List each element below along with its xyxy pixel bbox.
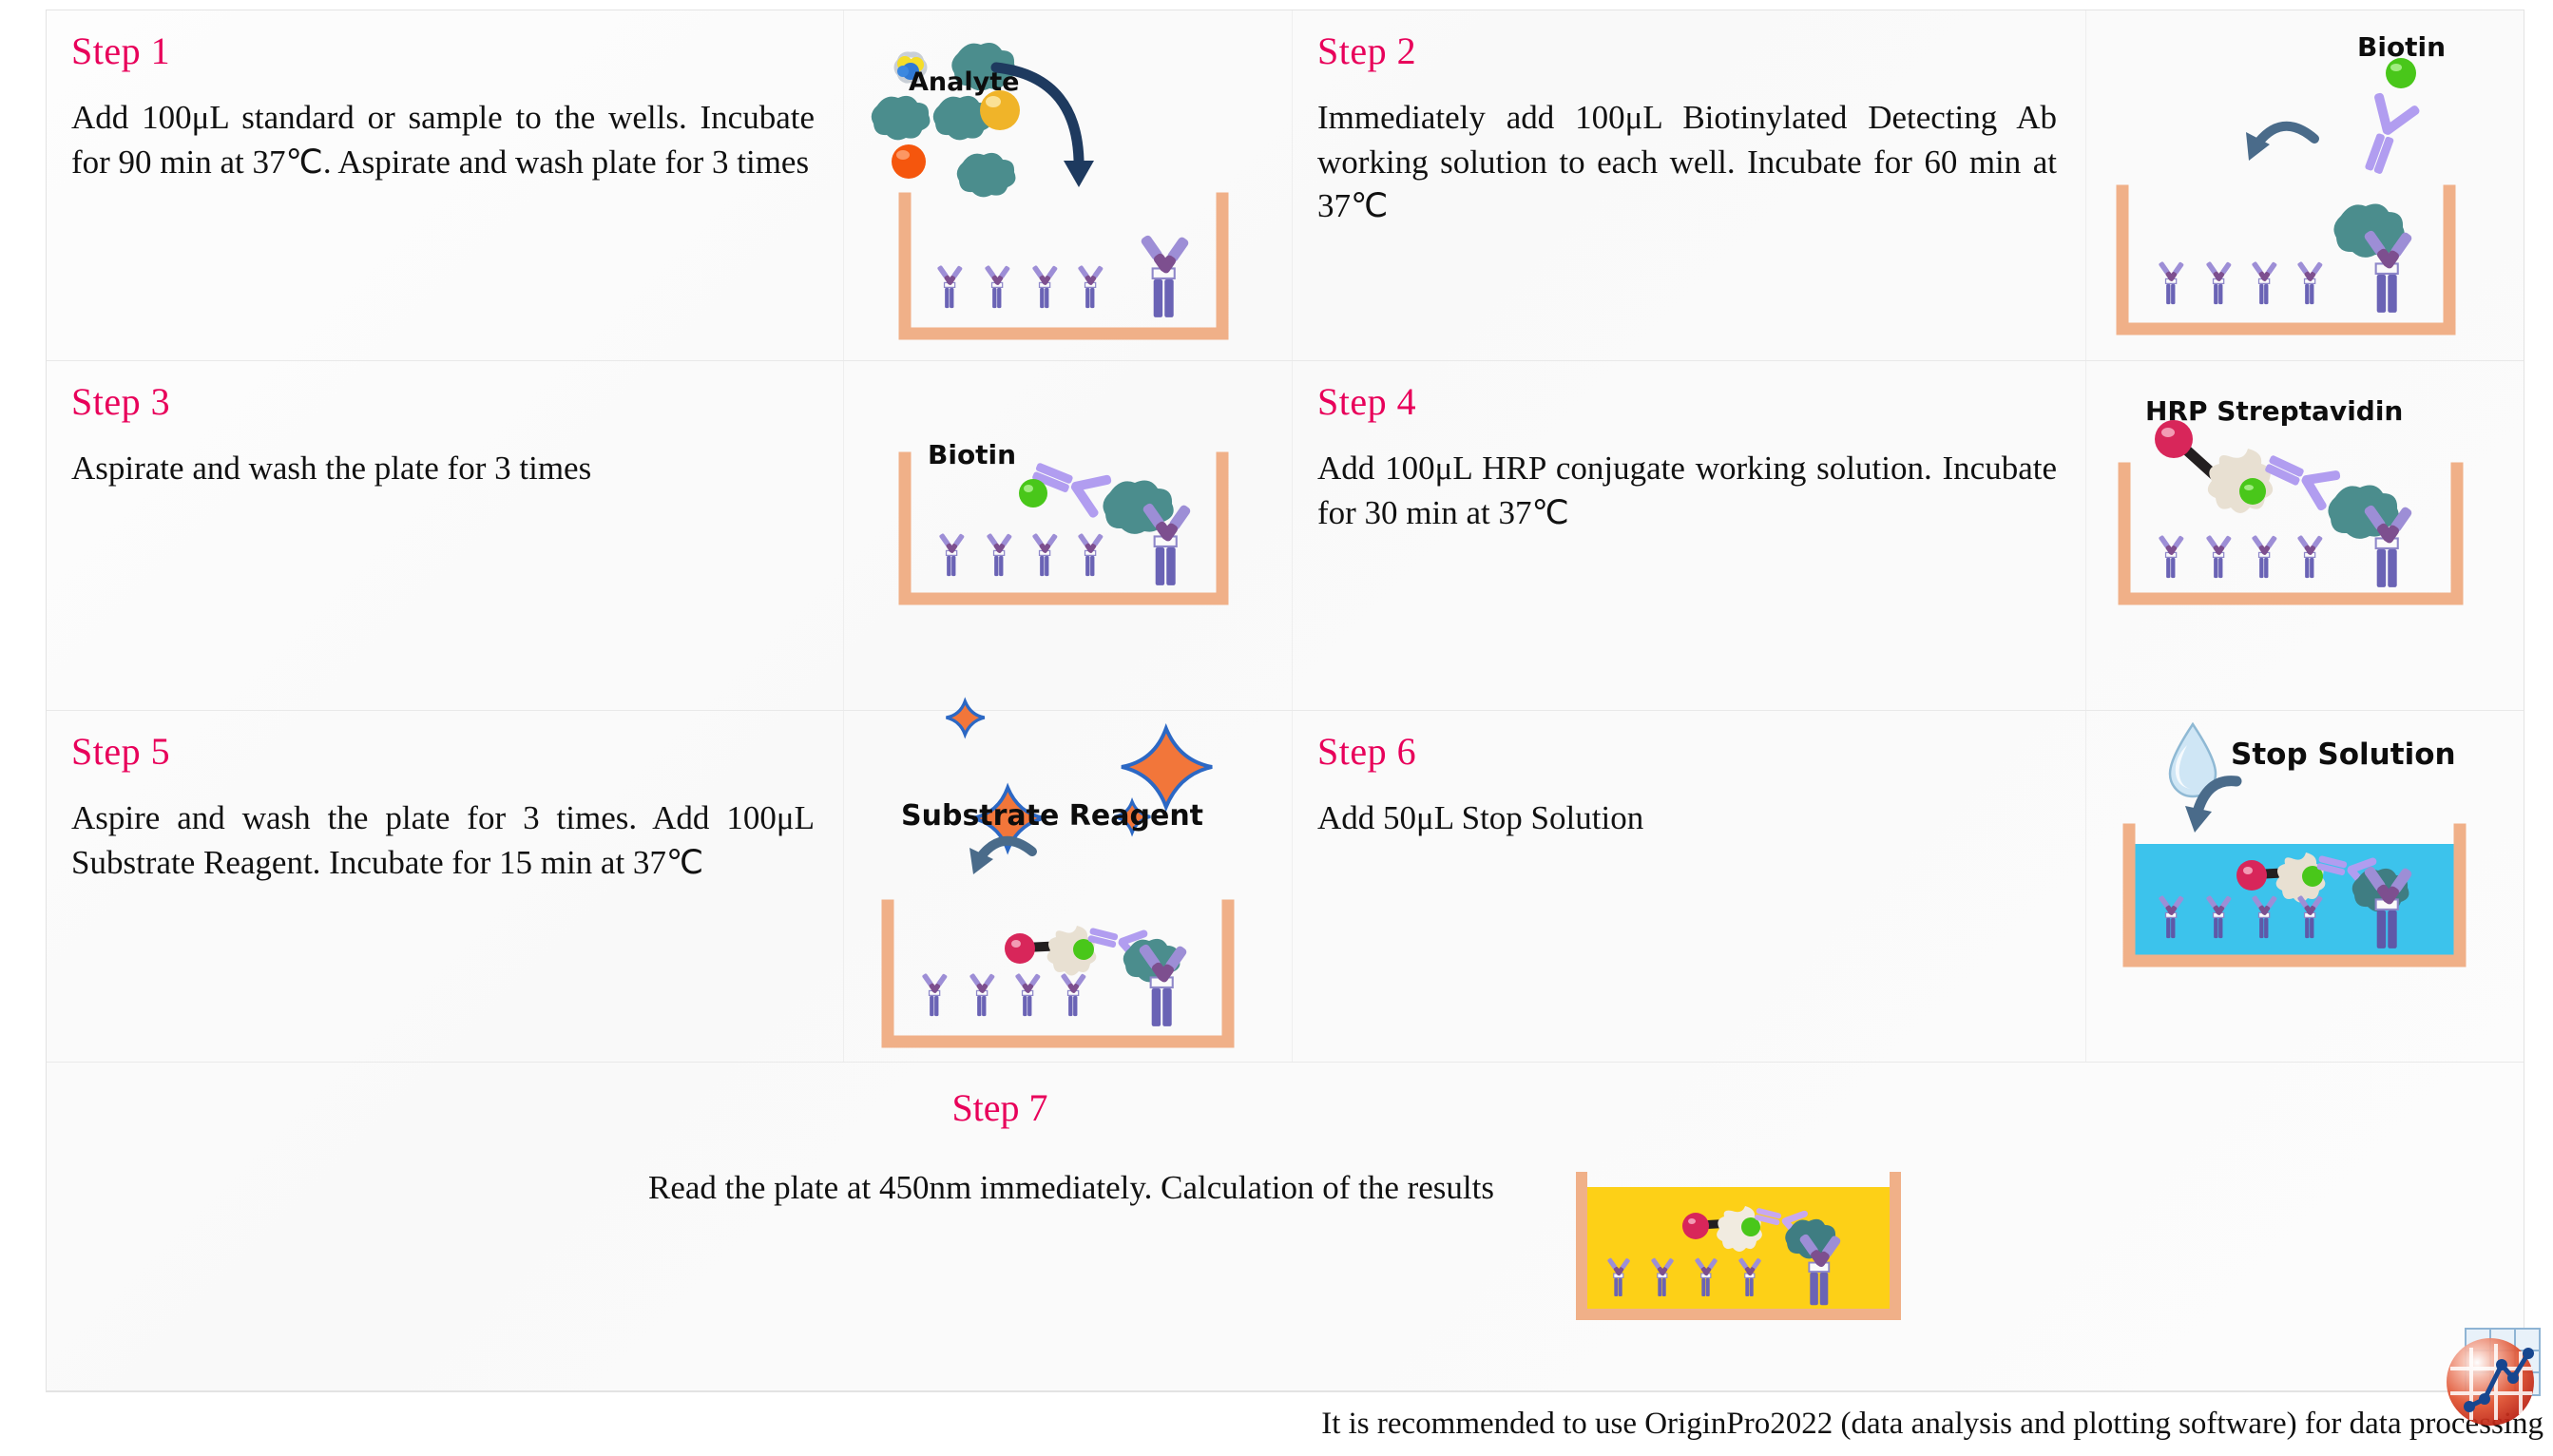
step-6-description: Add 50μL Stop Solution xyxy=(1317,796,2057,841)
stop-solution-well-illustration: Stop Solution xyxy=(2086,711,2524,1063)
protocol-row-2: Step 3 Aspirate and wash the plate for 3… xyxy=(47,361,2524,711)
microplate-well xyxy=(905,199,1222,334)
hrp-enzyme xyxy=(1005,933,1035,964)
step-1-description: Add 100μL standard or sample to the well… xyxy=(71,96,815,184)
protocol-row-4: Step 7 Read the plate at 450nm immediate… xyxy=(47,1063,2524,1391)
coating-antibodies xyxy=(939,502,1192,585)
substrate-reagent-well-illustration: Substrate Reagent xyxy=(844,711,1293,1063)
step-1-illustration-cell: Analyte xyxy=(844,10,1293,360)
step-5-label: Step 5 xyxy=(71,732,815,772)
read-plate-yellow-well-illustration xyxy=(1561,1166,1922,1342)
biotin-molecule xyxy=(2386,58,2416,88)
step-3-description: Aspirate and wash the plate for 3 times xyxy=(71,447,815,491)
step-7-label: Step 7 xyxy=(47,1085,2524,1130)
biotin-molecule xyxy=(2239,478,2266,505)
biotin-caption: Biotin xyxy=(928,439,1016,470)
protocol-row-1: Step 1 Add 100μL standard or sample to t… xyxy=(47,10,2524,361)
analyte-addition-well-illustration: Analyte xyxy=(844,10,1293,361)
step-5-illustration-cell: Substrate Reagent xyxy=(844,711,1293,1062)
step-4-label: Step 4 xyxy=(1317,382,2057,422)
step-5-description: Aspire and wash the plate for 3 times. A… xyxy=(71,796,815,885)
step-2-label: Step 2 xyxy=(1317,31,2057,71)
step-6-label: Step 6 xyxy=(1317,732,2057,772)
step-1-text-cell: Step 1 Add 100μL standard or sample to t… xyxy=(47,10,844,360)
step-4-description: Add 100μL HRP conjugate working solution… xyxy=(1317,447,2057,535)
analyte-orange-sphere xyxy=(892,144,926,179)
step-6-illustration-cell: Stop Solution xyxy=(2086,711,2524,1062)
streptavidin-molecule xyxy=(2208,449,2273,513)
step-7-description: Read the plate at 450nm immediately. Cal… xyxy=(648,1166,1504,1211)
biotin-bound-well-illustration: Biotin xyxy=(844,361,1293,711)
step-3-label: Step 3 xyxy=(71,382,815,422)
hrp-enzyme xyxy=(2236,860,2267,891)
footer-bar: It is recommended to use OriginPro2022 (… xyxy=(46,1395,2553,1452)
flow-arrow-icon xyxy=(2246,126,2314,161)
footer-note: It is recommended to use OriginPro2022 (… xyxy=(1321,1407,2543,1442)
step-5-text-cell: Step 5 Aspire and wash the plate for 3 t… xyxy=(47,711,844,1062)
microplate-well xyxy=(2124,469,2457,599)
coating-antibodies xyxy=(2159,504,2413,587)
originpro-logo[interactable] xyxy=(2439,1327,2543,1431)
microplate-well xyxy=(888,906,1228,1042)
biotinylated-detecting-antibody xyxy=(2349,89,2423,180)
hrp-enzyme xyxy=(1682,1213,1709,1239)
step-4-illustration-cell: HRP Streptavidin xyxy=(2086,361,2524,710)
hrp-streptavidin-caption: HRP Streptavidin xyxy=(2145,395,2403,427)
substrate-reagent-caption: Substrate Reagent xyxy=(901,799,1203,833)
flow-arrow-icon xyxy=(969,841,1032,874)
step-7-cell: Step 7 Read the plate at 450nm immediate… xyxy=(47,1063,2524,1390)
step-7-illustration-cell xyxy=(1561,1166,1922,1342)
stop-solution-caption: Stop Solution xyxy=(2231,738,2456,772)
coating-antibodies xyxy=(937,234,1190,317)
step-1-label: Step 1 xyxy=(71,31,815,71)
step-4-text-cell: Step 4 Add 100μL HRP conjugate working s… xyxy=(1293,361,2086,710)
hrp-streptavidin-well-illustration: HRP Streptavidin xyxy=(2086,361,2524,711)
step-3-text-cell: Step 3 Aspirate and wash the plate for 3… xyxy=(47,361,844,710)
protocol-table: Step 1 Add 100μL standard or sample to t… xyxy=(46,10,2524,1392)
step-3-illustration-cell: Biotin xyxy=(844,361,1293,710)
step-2-illustration-cell: Biotin xyxy=(2086,10,2524,360)
step-2-text-cell: Step 2 Immediately add 100μL Biotinylate… xyxy=(1293,10,2086,360)
analyte-caption: Analyte xyxy=(909,67,1019,97)
biotin-detecting-ab-well-illustration: Biotin xyxy=(2086,10,2524,361)
protocol-row-3: Step 5 Aspire and wash the plate for 3 t… xyxy=(47,711,2524,1063)
coating-antibodies xyxy=(2159,229,2413,313)
step-6-text-cell: Step 6 Add 50μL Stop Solution xyxy=(1293,711,2086,1062)
microplate-well xyxy=(2122,191,2449,329)
biotin-molecule xyxy=(1019,479,1047,508)
capture-antibody xyxy=(1140,234,1190,317)
step-2-description: Immediately add 100μL Biotinylated Detec… xyxy=(1317,96,2057,229)
hrp-enzyme xyxy=(2155,420,2193,458)
